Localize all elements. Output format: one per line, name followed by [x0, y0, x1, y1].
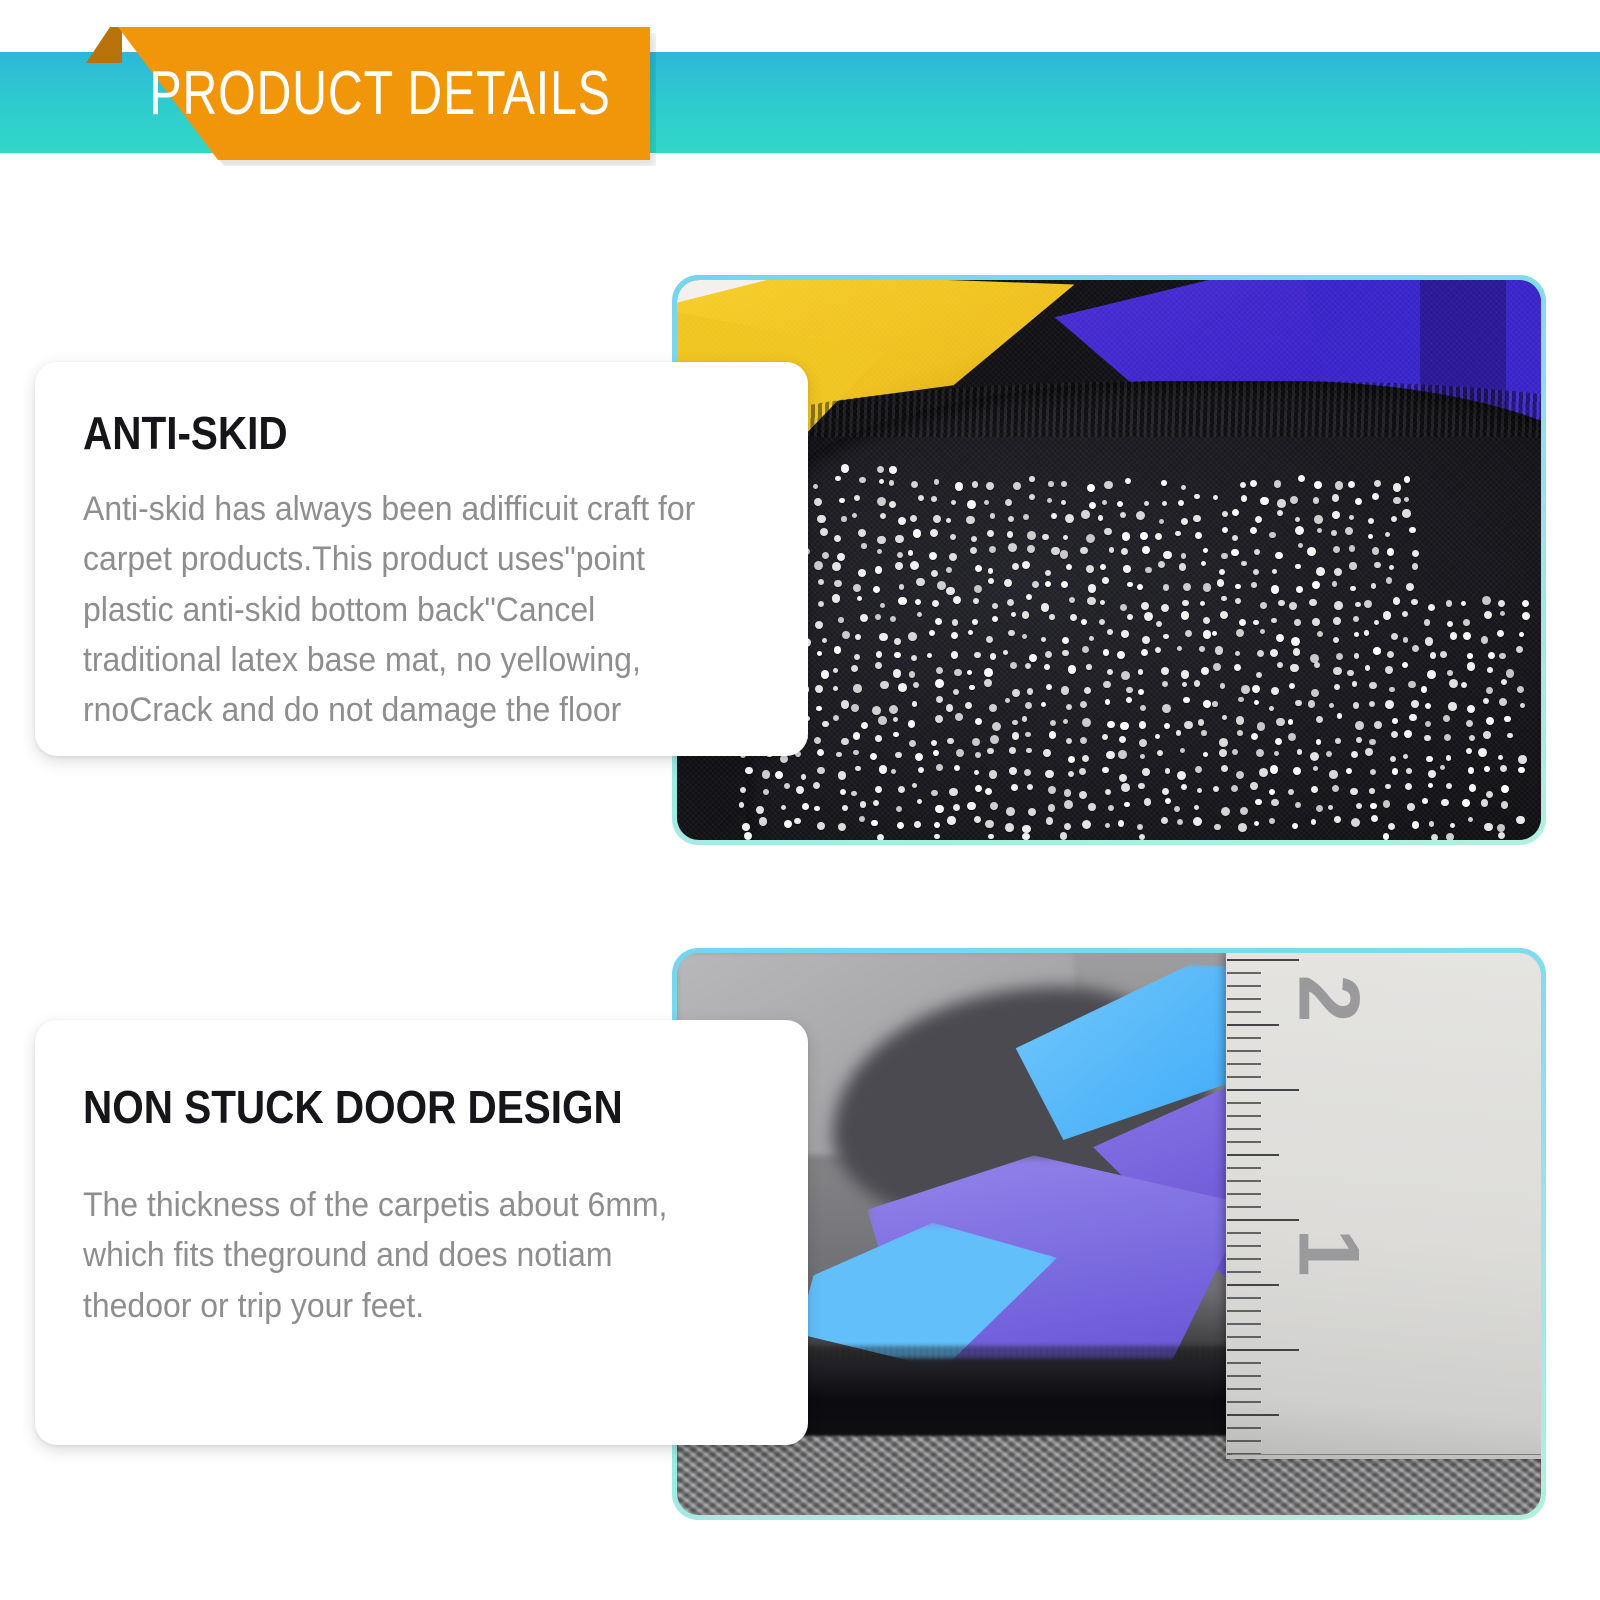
thickness-text-card: NON STUCK DOOR DESIGN The thickness of t… — [35, 1020, 808, 1445]
page-title: PRODUCT DETAILS — [169, 27, 590, 160]
ruler-bottom-edge — [1232, 1454, 1541, 1455]
ruler-label-2: 2 — [1278, 975, 1377, 1023]
anti-skid-text-card: ANTI-SKID Anti-skid has always been adif… — [35, 362, 808, 756]
ruler: 2 1 — [1226, 953, 1541, 1459]
thickness-body: The thickness of the carpetis about 6mm,… — [83, 1180, 719, 1331]
thickness-heading: NON STUCK DOOR DESIGN — [83, 1080, 679, 1134]
ruler-label-1: 1 — [1278, 1229, 1377, 1277]
page-header: PRODUCT DETAILS — [0, 0, 1600, 200]
header-banner-fold — [86, 27, 122, 63]
ruler-tick-marks — [1226, 953, 1541, 1459]
anti-skid-body: Anti-skid has always been adifficuit cra… — [83, 484, 719, 736]
anti-skid-heading: ANTI-SKID — [83, 406, 679, 460]
